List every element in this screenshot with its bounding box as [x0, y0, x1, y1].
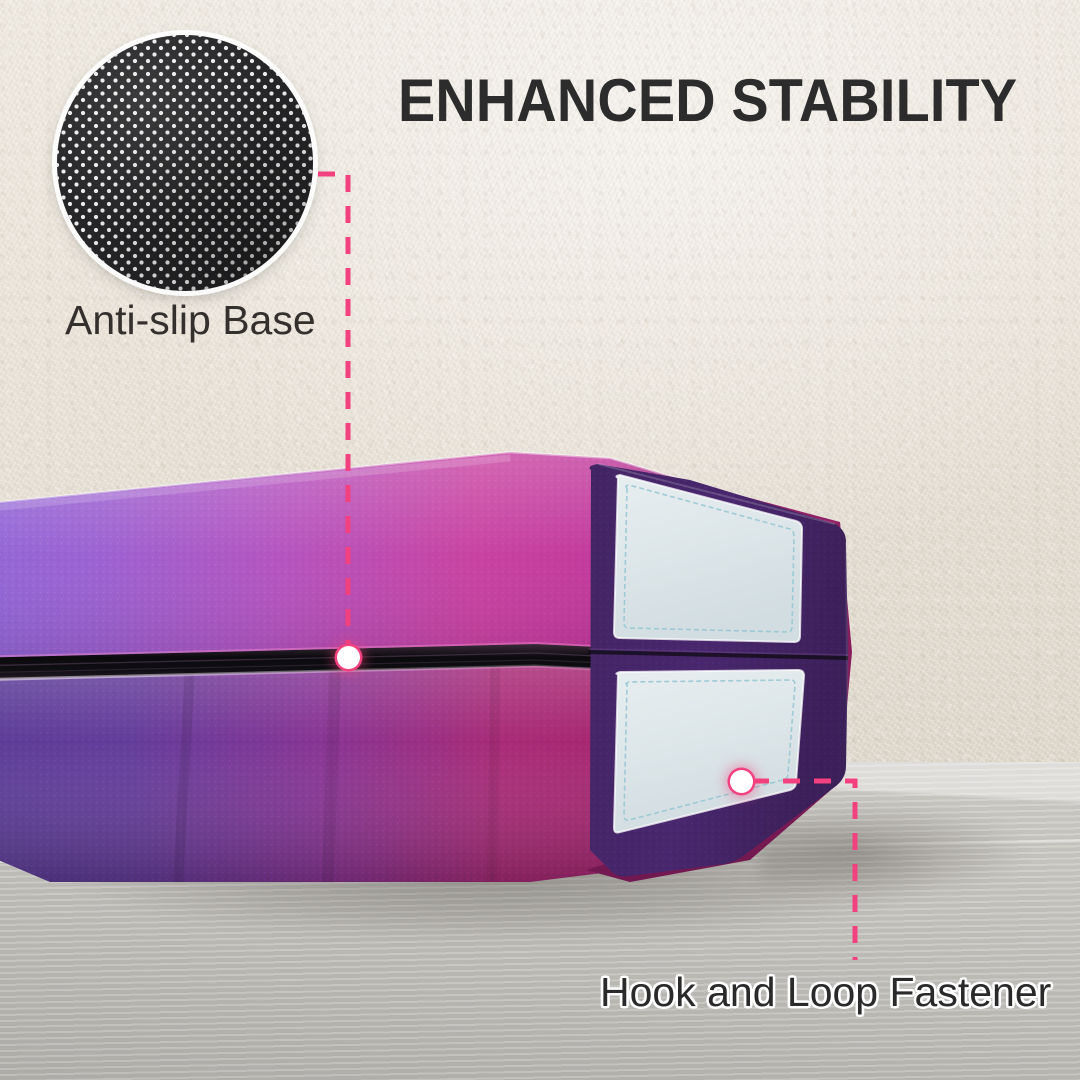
anti-slip-texture-swatch-icon — [57, 35, 313, 291]
mat-front-face — [0, 666, 690, 882]
page-title: ENHANCED STABILITY — [398, 71, 1017, 131]
folding-gymnastics-mat — [0, 430, 870, 900]
mat-top-face — [0, 452, 690, 662]
callout-label-hook-and-loop: Hook and Loop Fastener — [600, 972, 1051, 1013]
hook-and-loop-patch-upper — [614, 475, 802, 642]
infographic-canvas: ENHANCED STABILITY Anti-slip Base Hook a… — [0, 0, 1080, 1080]
callout-marker-hook-and-loop[interactable] — [730, 770, 753, 793]
swatch-shading — [57, 35, 313, 291]
callout-label-anti-slip: Anti-slip Base — [65, 300, 316, 341]
callout-marker-anti-slip[interactable] — [337, 646, 360, 669]
